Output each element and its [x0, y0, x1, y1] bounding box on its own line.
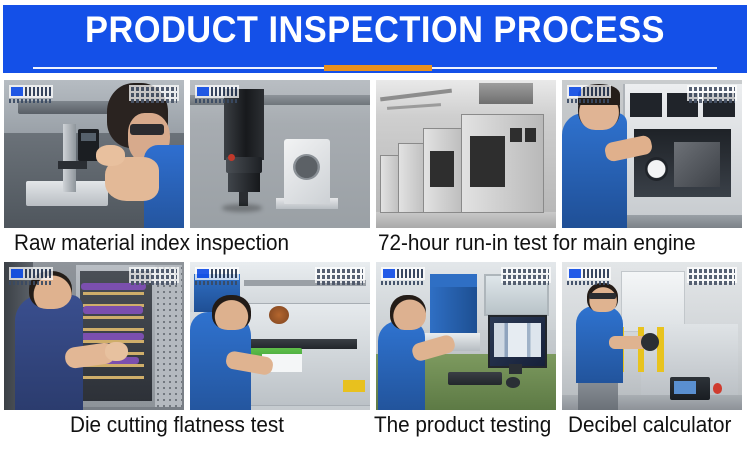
brand-watermark-icon [381, 267, 425, 285]
photo-vision-measuring-station[interactable] [376, 262, 556, 410]
photo-gallery: Raw material index inspection 72-hour ru… [0, 80, 750, 444]
chinese-watermark-icon [315, 267, 365, 283]
chinese-watermark-icon [501, 267, 551, 283]
scene-machine-frames [376, 80, 556, 228]
photo-dial-gauge-check[interactable] [562, 80, 742, 228]
brand-watermark-icon [9, 85, 53, 103]
brand-watermark-icon [567, 267, 611, 285]
gallery-row-1-captions: Raw material index inspection 72-hour ru… [0, 228, 750, 262]
product-inspection-process-page: PRODUCT INSPECTION PROCESS [0, 0, 750, 449]
header-divider [33, 65, 717, 71]
gallery-row-1-photos [0, 80, 750, 228]
page-title: PRODUCT INSPECTION PROCESS [29, 9, 721, 51]
caption-decibel-calculator: Decibel calculator [568, 412, 731, 438]
page-header-banner: PRODUCT INSPECTION PROCESS [3, 5, 747, 73]
photo-raw-material-index-inspection[interactable] [4, 80, 184, 228]
brand-watermark-icon [567, 85, 611, 103]
caption-raw-material-index-inspection: Raw material index inspection [14, 230, 289, 256]
caption-die-cutting-flatness-test: Die cutting flatness test [70, 412, 284, 438]
photo-machine-frames-run-in[interactable] [376, 80, 556, 228]
caption-the-product-testing: The product testing [374, 412, 551, 438]
photo-electrical-cabinet-wiring[interactable] [4, 262, 184, 410]
photo-cmm-probe-measurement[interactable] [190, 80, 370, 228]
brand-watermark-icon [9, 267, 53, 285]
brand-watermark-icon [195, 267, 239, 285]
divider-accent [324, 65, 432, 71]
gallery-row-2-captions: Die cutting flatness test The product te… [0, 410, 750, 444]
gallery-row-2-photos [0, 262, 750, 410]
caption-72-hour-run-in-test: 72-hour run-in test for main engine [378, 230, 696, 256]
chinese-watermark-icon [687, 267, 737, 283]
brand-watermark-icon [195, 85, 239, 103]
chinese-watermark-icon [687, 85, 737, 101]
chinese-watermark-icon [129, 85, 179, 101]
photo-decibel-measurement[interactable] [562, 262, 742, 410]
chinese-watermark-icon [129, 267, 179, 283]
gallery-row-1: Raw material index inspection 72-hour ru… [0, 80, 750, 262]
photo-die-cutting-machine[interactable] [190, 262, 370, 410]
gallery-row-2: Die cutting flatness test The product te… [0, 262, 750, 444]
